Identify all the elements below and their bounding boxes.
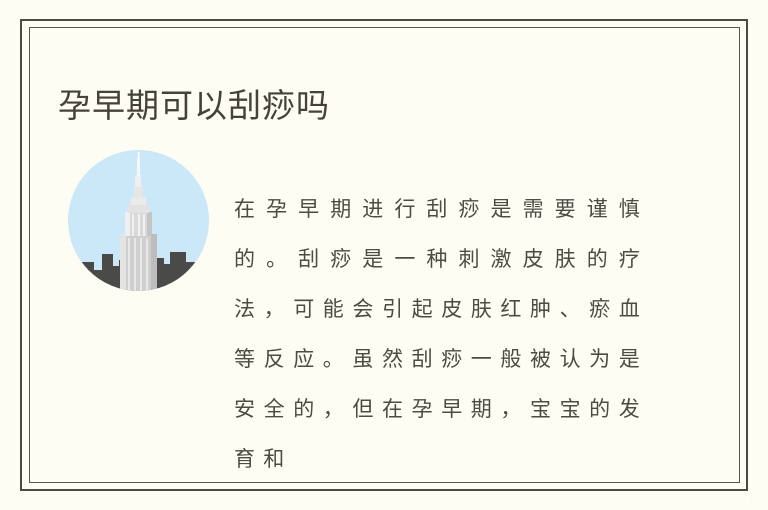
article-thumbnail xyxy=(68,150,209,291)
article-content: 孕早期可以刮痧吗 xyxy=(0,0,768,510)
article-paragraph: 在孕早期进行刮痧是需要谨慎的。刮痧是一种刺激皮肤的疗法，可能会引起皮肤红肿、瘀血… xyxy=(234,184,648,484)
document-page: 孕早期可以刮痧吗 xyxy=(0,0,768,510)
watermark: · xyxy=(750,493,754,503)
empire-state-building-icon xyxy=(68,150,209,291)
page-title: 孕早期可以刮痧吗 xyxy=(58,85,330,127)
